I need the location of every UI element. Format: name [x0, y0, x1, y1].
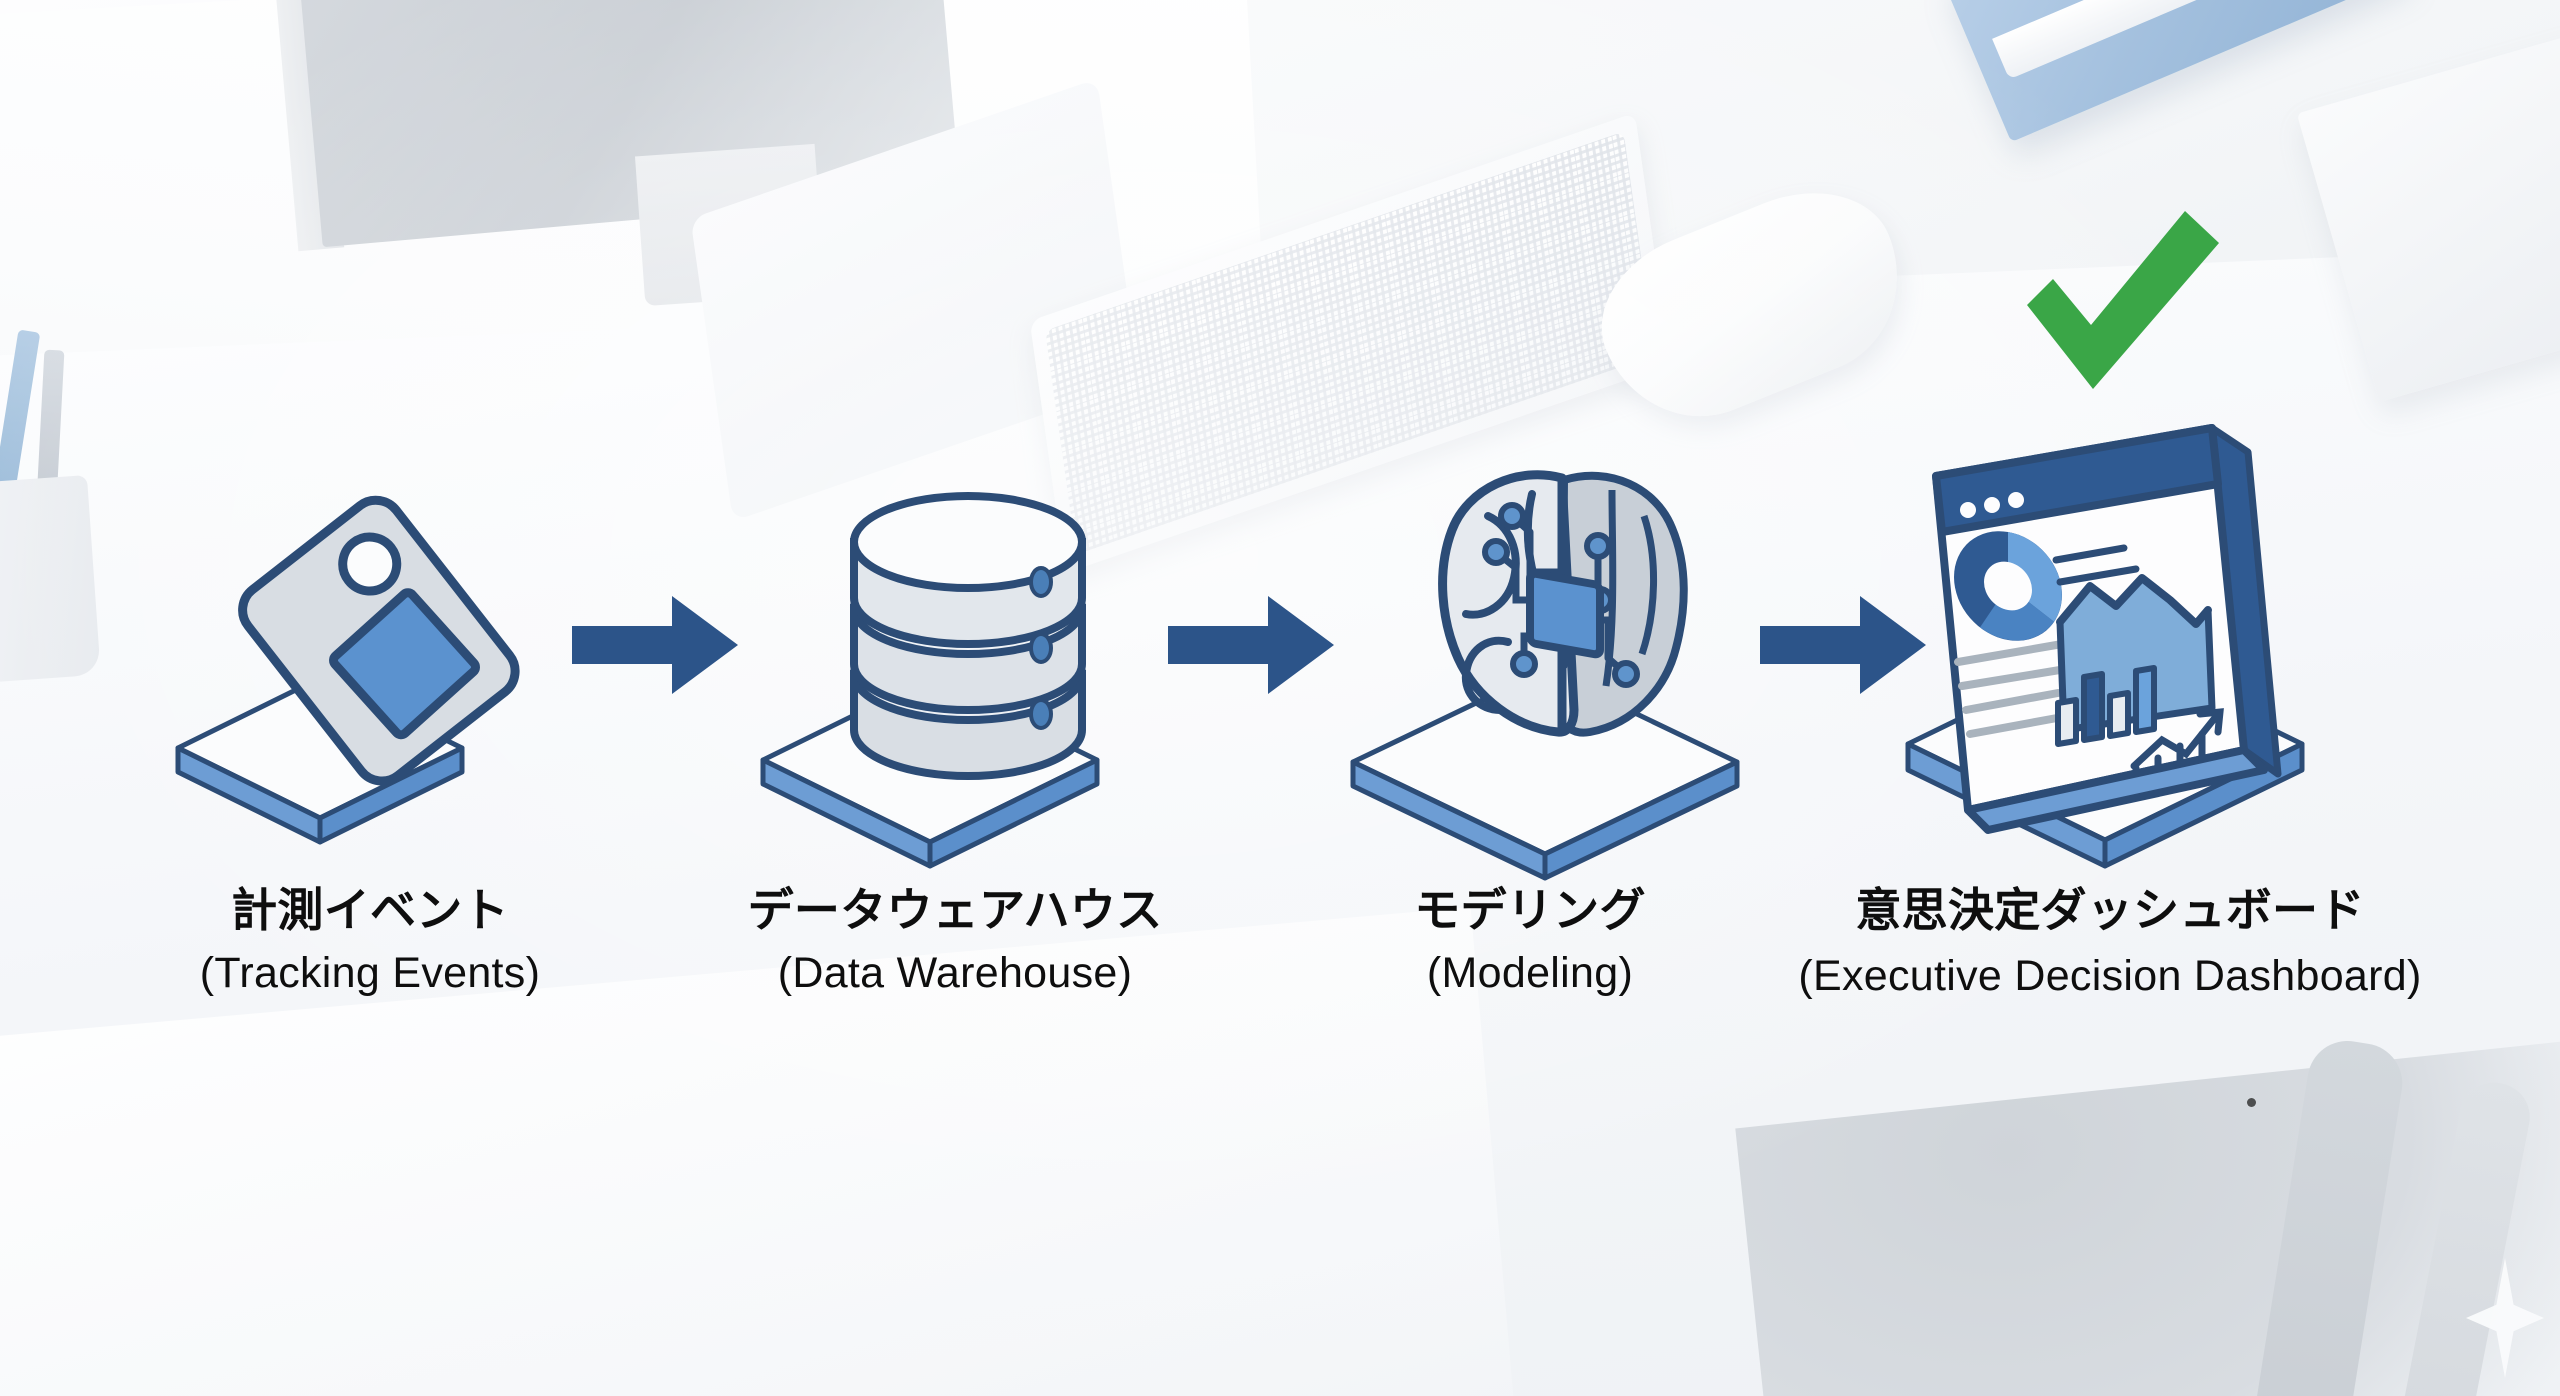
step-3-label-ja: モデリング — [1320, 885, 1740, 937]
arrow-right-icon-1 — [572, 592, 740, 698]
step-3-label-en: (Modeling) — [1320, 949, 1740, 997]
check-icon — [1995, 195, 2235, 405]
step-1-label-en: (Tracking Events) — [110, 949, 630, 997]
step-4-label-ja: 意思決定ダッシュボード — [1790, 885, 2430, 937]
step-2-label-en: (Data Warehouse) — [665, 949, 1245, 997]
diagram-canvas: 計測イベント (Tracking Events) — [0, 0, 2560, 1396]
step-2-label-ja: データウェアハウス — [665, 885, 1245, 937]
brain-chip-icon[interactable] — [1412, 460, 1712, 760]
step-1-label-ja: 計測イベント — [110, 885, 630, 937]
tag-icon[interactable] — [252, 488, 532, 788]
pipeline-flow: 計測イベント (Tracking Events) — [0, 0, 2560, 1396]
step-1-label: 計測イベント (Tracking Events) — [110, 885, 630, 997]
step-4-label: 意思決定ダッシュボード (Executive Decision Dashboar… — [1790, 885, 2430, 1004]
step-4-label-en: (Executive Decision Dashboard) — [1790, 949, 2430, 1005]
arrow-right-icon-2 — [1168, 592, 1336, 698]
dashboard-icon[interactable] — [1912, 410, 2332, 830]
database-icon[interactable] — [838, 478, 1098, 808]
step-3-label: モデリング (Modeling) — [1320, 885, 1740, 997]
step-2-label: データウェアハウス (Data Warehouse) — [665, 885, 1245, 997]
